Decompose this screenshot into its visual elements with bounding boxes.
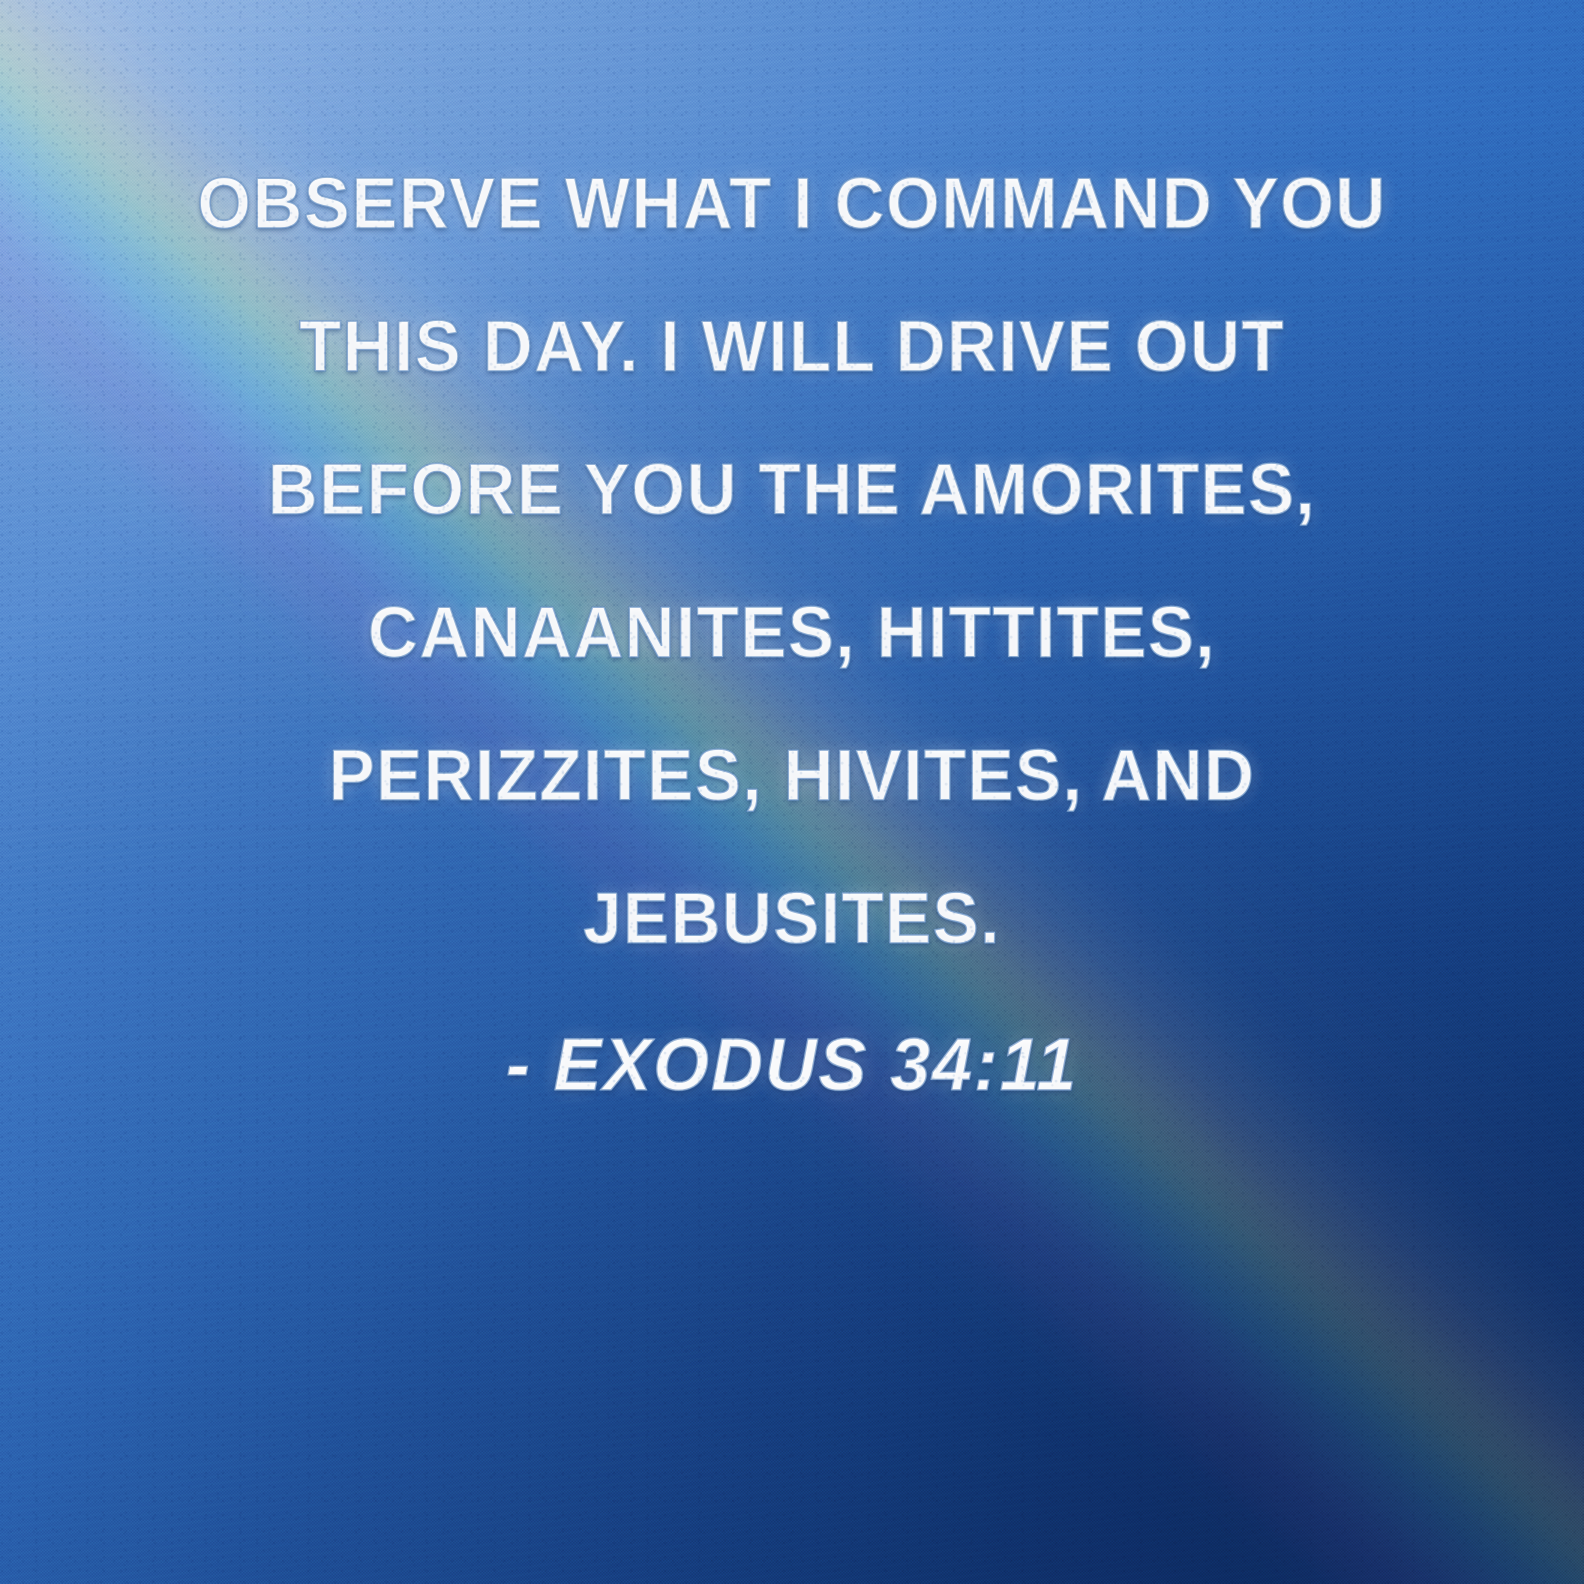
verse-image-canvas: OBSERVE WHAT I COMMAND YOU THIS DAY. I W… — [0, 0, 1584, 1584]
verse-line-5: PERIZZITES, HIVITES, AND — [32, 705, 1553, 848]
verse-line-4: CANAANITES, HITTITES, — [32, 562, 1553, 705]
verse-line-2: THIS DAY. I WILL DRIVE OUT — [32, 276, 1553, 419]
verse-line-6: JEBUSITES. — [32, 848, 1553, 991]
verse-text-block: OBSERVE WHAT I COMMAND YOU THIS DAY. I W… — [0, 133, 1584, 991]
verse-line-3: BEFORE YOU THE AMORITES, — [32, 419, 1553, 562]
verse-citation: - EXODUS 34:11 — [24, 1022, 1560, 1107]
verse-line-1: OBSERVE WHAT I COMMAND YOU — [32, 133, 1553, 276]
